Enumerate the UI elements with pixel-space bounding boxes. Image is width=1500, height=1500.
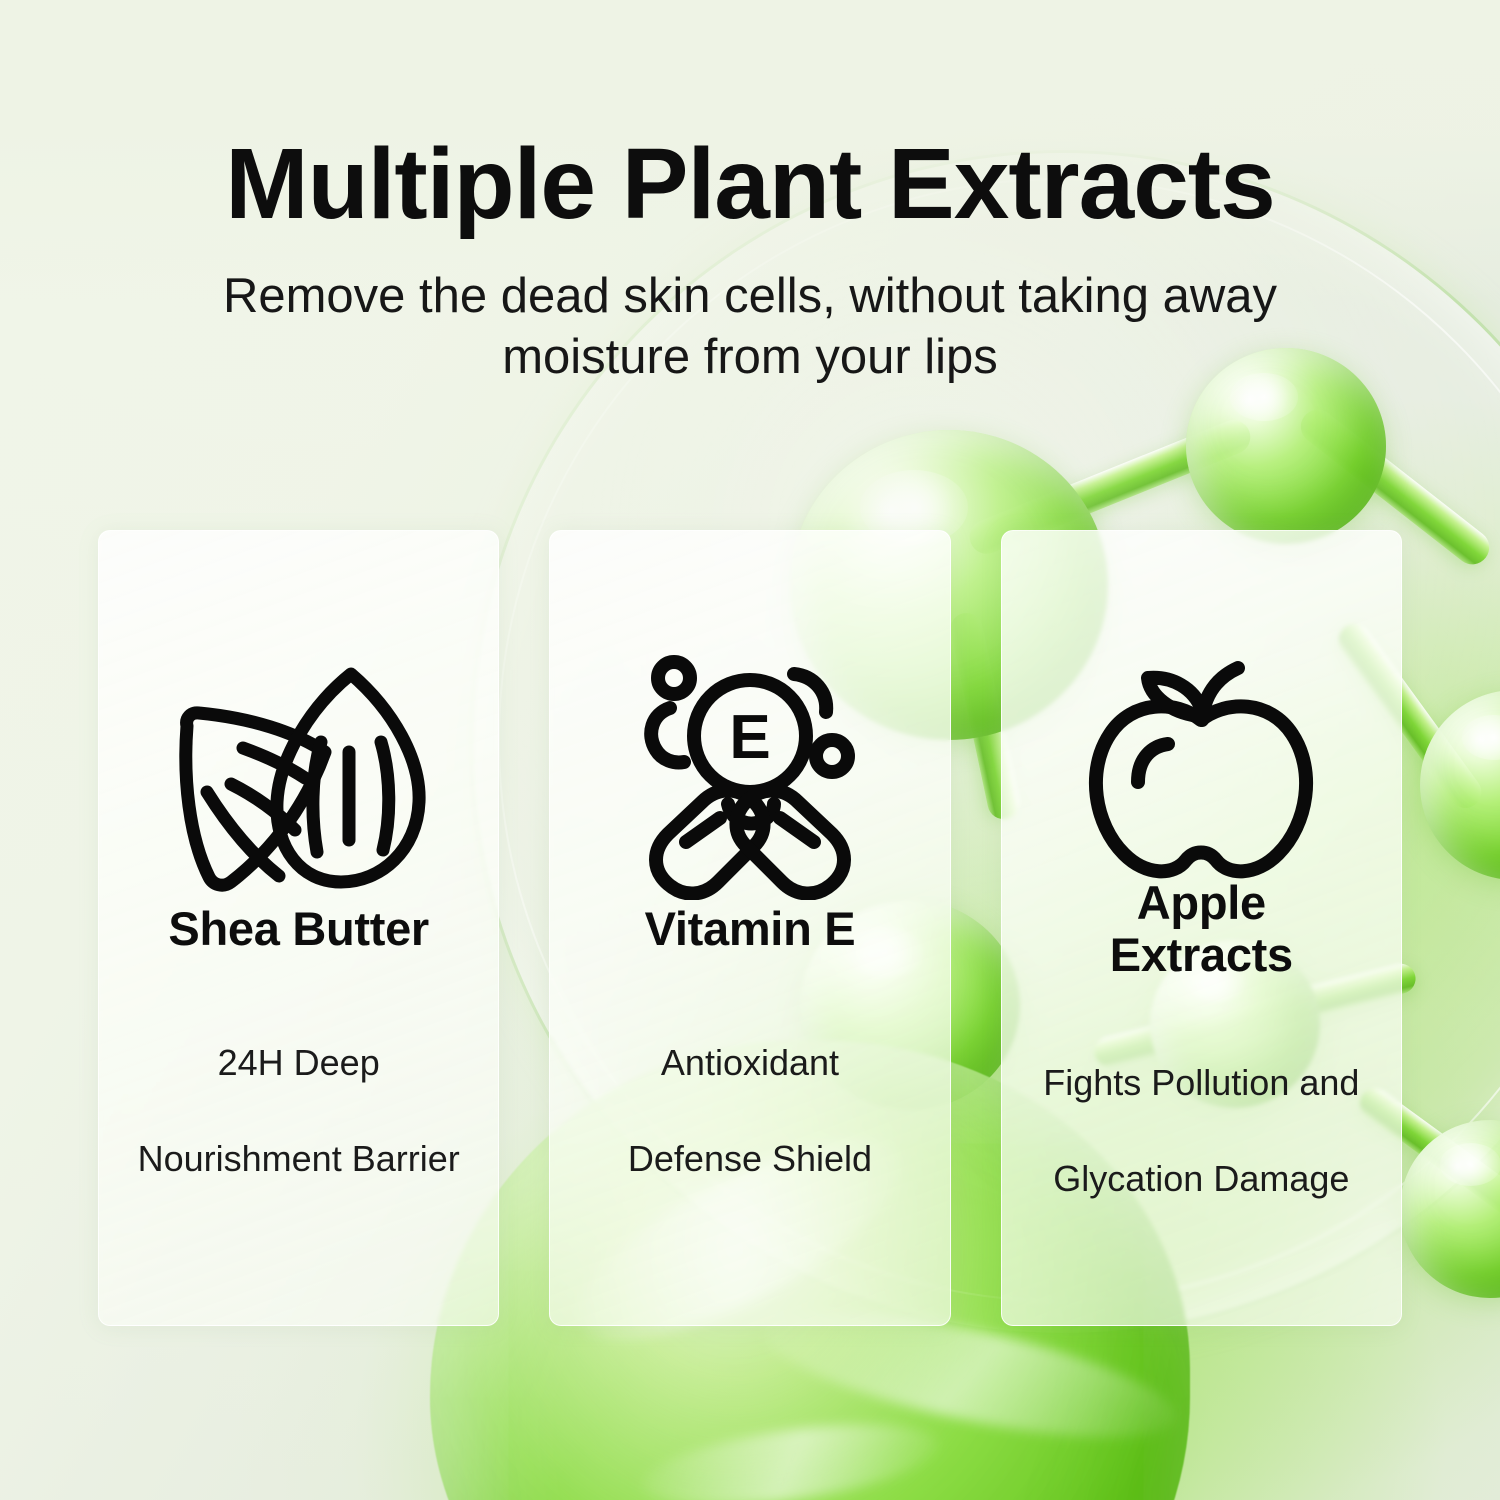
ingredient-card-shea-butter[interactable]: Shea Butter 24H Deep Nourishment Barrier	[98, 530, 499, 1326]
card-title-line-1: Apple	[1110, 877, 1293, 929]
page-subtitle: Remove the dead skin cells, without taki…	[105, 266, 1395, 389]
ingredient-card-list: Shea Butter 24H Deep Nourishment Barrier…	[98, 530, 1402, 1326]
vitamin-e-capsule-icon: E	[615, 651, 885, 901]
apple-icon	[1066, 651, 1336, 901]
card-title: Shea Butter	[168, 903, 428, 955]
card-description-line-1: Fights Pollution and	[1043, 1059, 1359, 1107]
card-description: 24H Deep Nourishment Barrier	[138, 991, 460, 1232]
card-title: Apple Extracts	[1110, 877, 1293, 980]
ingredient-card-apple-extracts[interactable]: Apple Extracts Fights Pollution and Glyc…	[1001, 530, 1402, 1326]
card-description-line-2: Glycation Damage	[1043, 1155, 1359, 1203]
page-subtitle-line-2: moisture from your lips	[105, 327, 1395, 388]
page-title: Multiple Plant Extracts	[0, 132, 1500, 236]
card-description-line-2: Nourishment Barrier	[138, 1135, 460, 1183]
card-description-line-2: Defense Shield	[628, 1135, 872, 1183]
card-description-line-1: 24H Deep	[138, 1039, 460, 1087]
ingredient-card-vitamin-e[interactable]: E	[549, 530, 950, 1326]
vitamin-e-letter: E	[729, 703, 770, 772]
card-description-line-1: Antioxidant	[628, 1039, 872, 1087]
card-title-line-2: Extracts	[1110, 929, 1293, 981]
almond-shea-nut-icon	[164, 651, 434, 901]
product-feature-poster: Multiple Plant Extracts Remove the dead …	[0, 0, 1500, 1500]
card-title: Vitamin E	[645, 903, 856, 955]
card-description: Antioxidant Defense Shield	[628, 991, 872, 1232]
card-description: Fights Pollution and Glycation Damage	[1043, 1010, 1359, 1251]
poster-header: Multiple Plant Extracts Remove the dead …	[0, 132, 1500, 389]
page-subtitle-line-1: Remove the dead skin cells, without taki…	[105, 266, 1395, 327]
